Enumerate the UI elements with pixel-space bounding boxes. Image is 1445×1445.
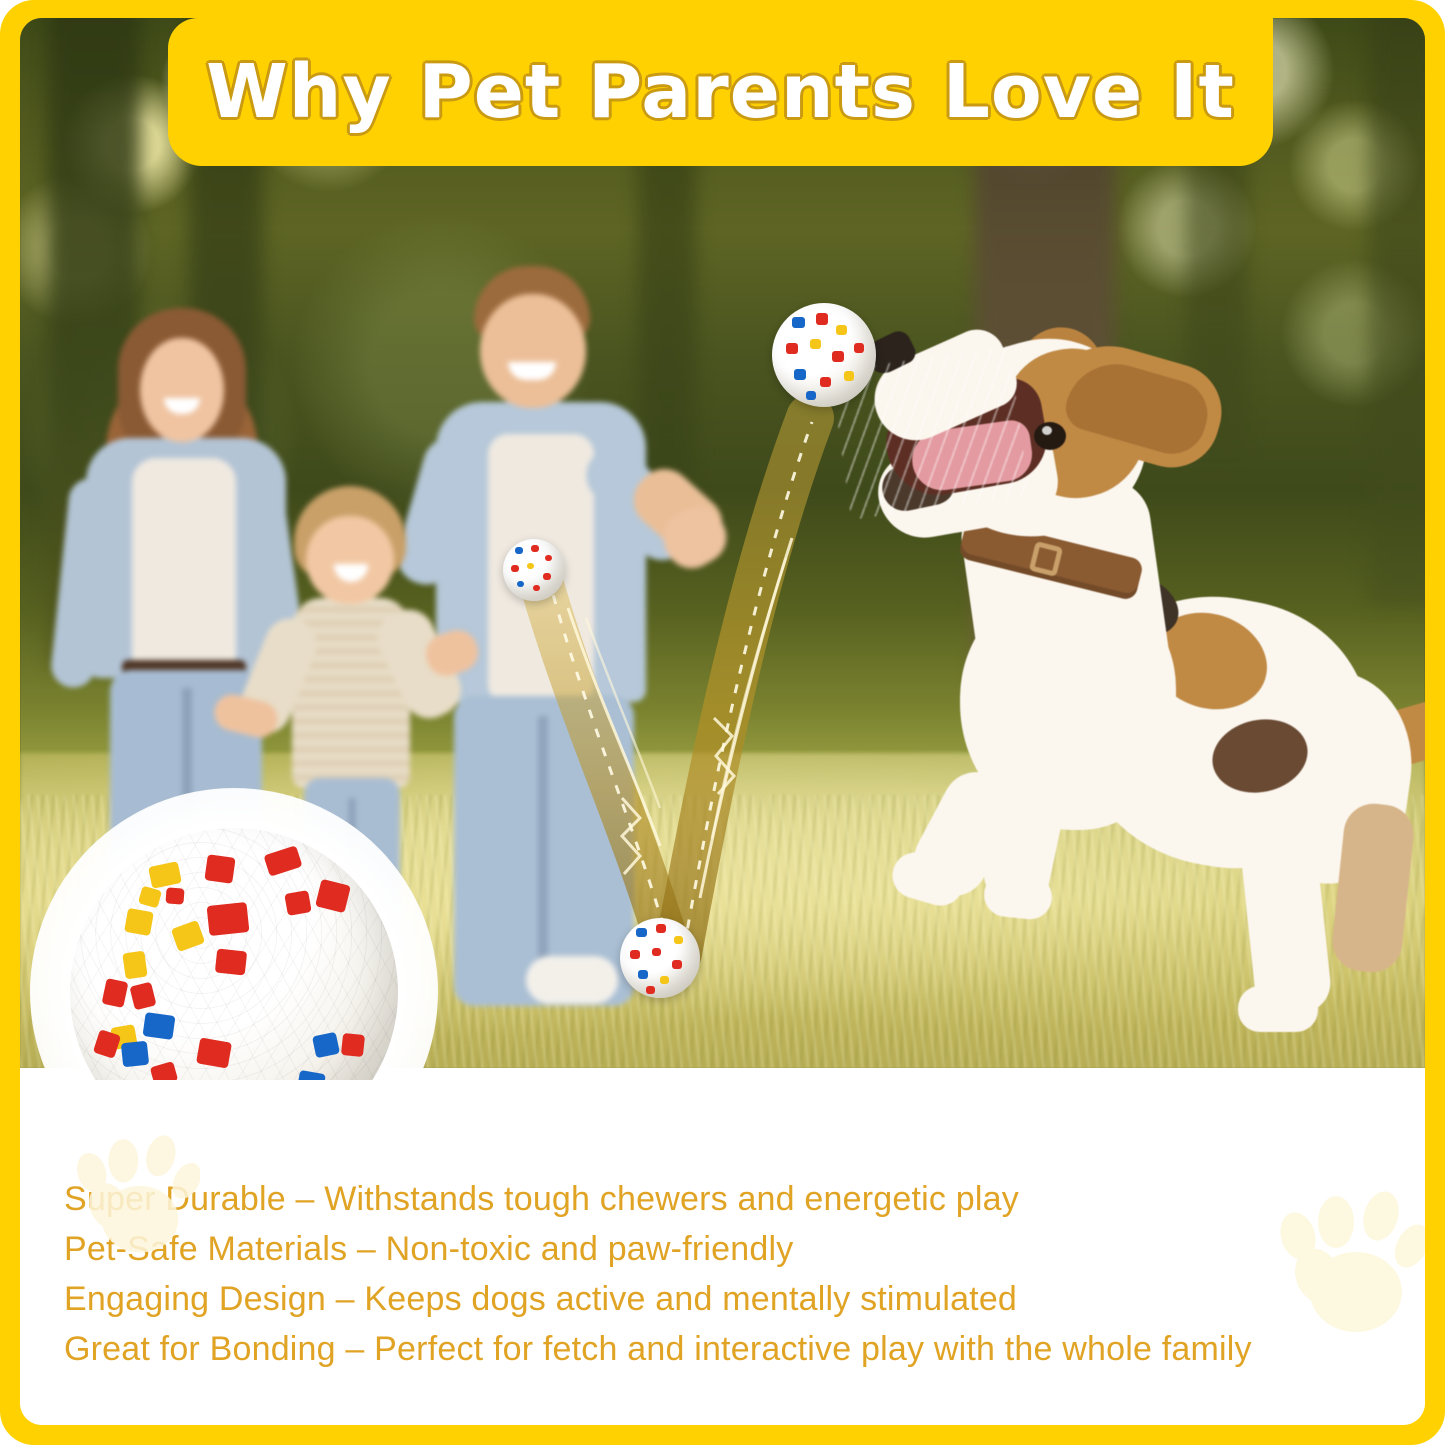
dog — [820, 318, 1420, 1058]
title-banner: Why Pet Parents Love It — [168, 18, 1273, 166]
benefit-item: Great for Bonding – Perfect for fetch an… — [64, 1324, 1425, 1374]
toy-ball-midair — [772, 303, 876, 407]
toy-ball-released — [503, 539, 565, 601]
benefits-section: Super Durable – Withstands tough chewers… — [20, 1080, 1425, 1425]
benefit-item: Engaging Design – Keeps dogs active and … — [64, 1274, 1425, 1324]
poster-root: Why Pet Parents Love It — [0, 0, 1445, 1445]
benefit-item: Pet-Safe Materials – Non-toxic and paw-f… — [64, 1224, 1425, 1274]
toy-ball-bouncing — [620, 918, 700, 998]
benefit-item: Super Durable – Withstands tough chewers… — [64, 1174, 1425, 1224]
page-title: Why Pet Parents Love It — [206, 49, 1235, 135]
poster-card: Why Pet Parents Love It — [20, 18, 1425, 1425]
